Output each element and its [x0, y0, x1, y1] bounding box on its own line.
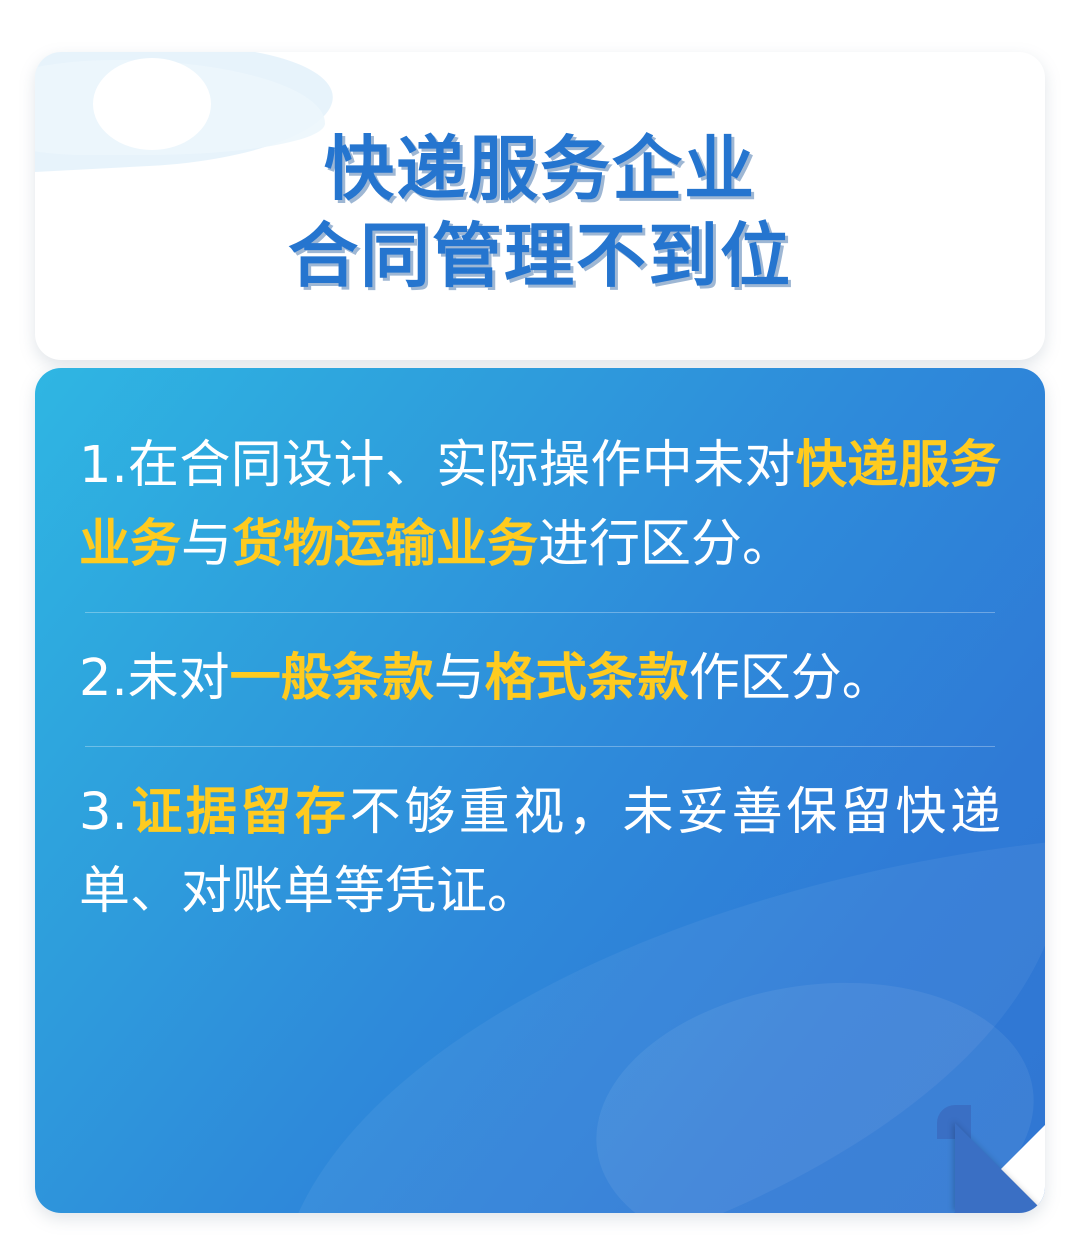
highlighted-text: 货物运输业务 [232, 515, 538, 574]
highlighted-text: 格式条款 [485, 649, 689, 708]
body-text: 进行区分。 [538, 515, 793, 574]
body-text: 与 [181, 515, 232, 574]
body-card: 1.在合同设计、实际操作中未对快递服务业务与货物运输业务进行区分。 2.未对一般… [35, 368, 1045, 1213]
highlighted-text: 证据留存 [128, 783, 350, 842]
body-text: 未对 [128, 649, 230, 708]
list-item-number: 1. [79, 436, 128, 495]
list-item-text: 2.未对一般条款与格式条款作区分。 [79, 639, 1001, 718]
list-item-text: 1.在合同设计、实际操作中未对快递服务业务与货物运输业务进行区分。 [79, 426, 1001, 584]
page-title: 快递服务企业 合同管理不到位 [35, 52, 1045, 360]
list-item-number: 3. [79, 783, 128, 842]
title-line-2: 合同管理不到位 [288, 213, 792, 300]
body-text: 在合同设计、实际操作中未对 [128, 436, 796, 495]
divider [85, 612, 995, 613]
list-item: 3.证据留存不够重视，未妥善保留快递单、对账单等凭证。 [79, 773, 1001, 931]
header-card: 快递服务企业 合同管理不到位 [35, 52, 1045, 360]
list-items: 1.在合同设计、实际操作中未对快递服务业务与货物运输业务进行区分。 2.未对一般… [35, 368, 1045, 931]
body-text: 与 [434, 649, 485, 708]
divider [85, 746, 995, 747]
highlighted-text: 一般条款 [230, 649, 434, 708]
title-line-1: 快递服务企业 [324, 126, 756, 213]
poster-root: 快递服务企业 合同管理不到位 1.在合同设计、实际操作中未对快递服务业务与货物运… [0, 0, 1080, 1252]
list-item-text: 3.证据留存不够重视，未妥善保留快递单、对账单等凭证。 [79, 773, 1001, 931]
body-text: 作区分。 [689, 649, 893, 708]
list-item-number: 2. [79, 649, 128, 708]
folded-corner-icon [955, 1123, 1045, 1213]
list-item: 2.未对一般条款与格式条款作区分。 [79, 639, 1001, 718]
list-item: 1.在合同设计、实际操作中未对快递服务业务与货物运输业务进行区分。 [79, 426, 1001, 584]
